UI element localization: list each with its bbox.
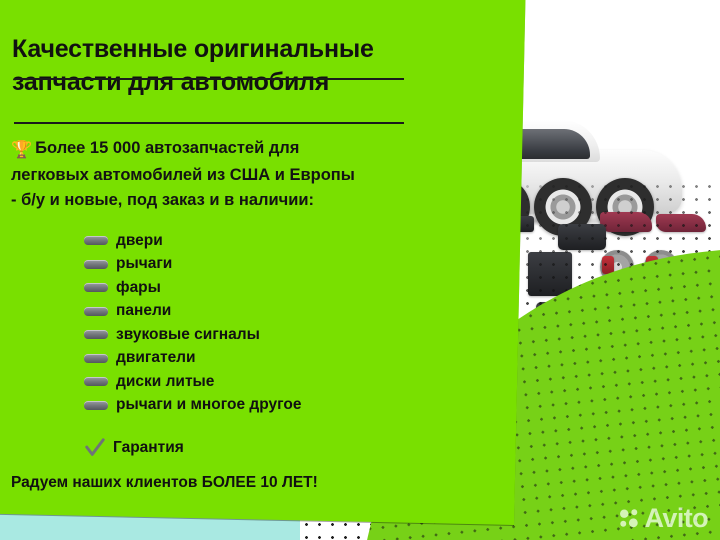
list-item-label: панели (116, 302, 171, 320)
bullet-marker-icon (84, 283, 108, 292)
avito-watermark: Avito (618, 505, 709, 532)
list-item: двери (84, 229, 424, 253)
bullet-marker-icon (84, 307, 108, 316)
bullet-marker-icon (84, 401, 108, 410)
list-item-label: фары (116, 279, 161, 297)
list-item-label: двери (116, 232, 163, 250)
checkmark-icon (84, 437, 106, 459)
parts-list: двери рычаги фары панели звуковые сигнал… (84, 229, 424, 417)
list-item-label: двигатели (116, 349, 196, 367)
list-item-label: рычаги и многое другое (116, 396, 301, 414)
subheading-line-2: легковых автомобилей из США и Европы (11, 166, 355, 184)
avito-logo-icon (618, 507, 641, 530)
list-item-label: диски литые (116, 373, 214, 391)
footer-text: Радуем наших клиентов БОЛЕЕ 10 ЛЕТ! (11, 474, 431, 492)
list-item: рычаги и многое другое (84, 394, 424, 418)
headline-line-1: Качественные оригинальные (12, 33, 432, 66)
list-item: двигатели (84, 347, 424, 371)
subheading-line-3: - б/у и новые, под заказ и в наличии: (11, 191, 314, 209)
subheading-line-1: Более 15 000 автозапчастей для (35, 139, 299, 157)
trophy-icon: 🏆 (11, 140, 32, 159)
list-item: рычаги (84, 253, 424, 277)
subheading: 🏆Более 15 000 автозапчастей для легковых… (11, 136, 431, 213)
list-item: фары (84, 276, 424, 300)
bullet-marker-icon (84, 236, 108, 245)
headline-divider-2 (14, 122, 404, 124)
guarantee-row: Гарантия (84, 437, 184, 459)
list-item: звуковые сигналы (84, 323, 424, 347)
guarantee-label: Гарантия (113, 439, 184, 457)
bullet-marker-icon (84, 260, 108, 269)
page-title: Качественные оригинальные запчасти для а… (12, 33, 432, 99)
bullet-marker-icon (84, 330, 108, 339)
list-item: диски литые (84, 370, 424, 394)
bullet-marker-icon (84, 377, 108, 386)
list-item: панели (84, 300, 424, 324)
poster-content: Качественные оригинальные запчасти для а… (0, 0, 470, 540)
avito-wordmark: Avito (645, 505, 709, 532)
bullet-marker-icon (84, 354, 108, 363)
headline-divider-1 (14, 78, 404, 80)
headline-line-2: запчасти для автомобиля (12, 66, 432, 99)
list-item-label: звуковые сигналы (116, 326, 260, 344)
list-item-label: рычаги (116, 255, 172, 273)
advert-poster: Качественные оригинальные запчасти для а… (0, 0, 720, 540)
